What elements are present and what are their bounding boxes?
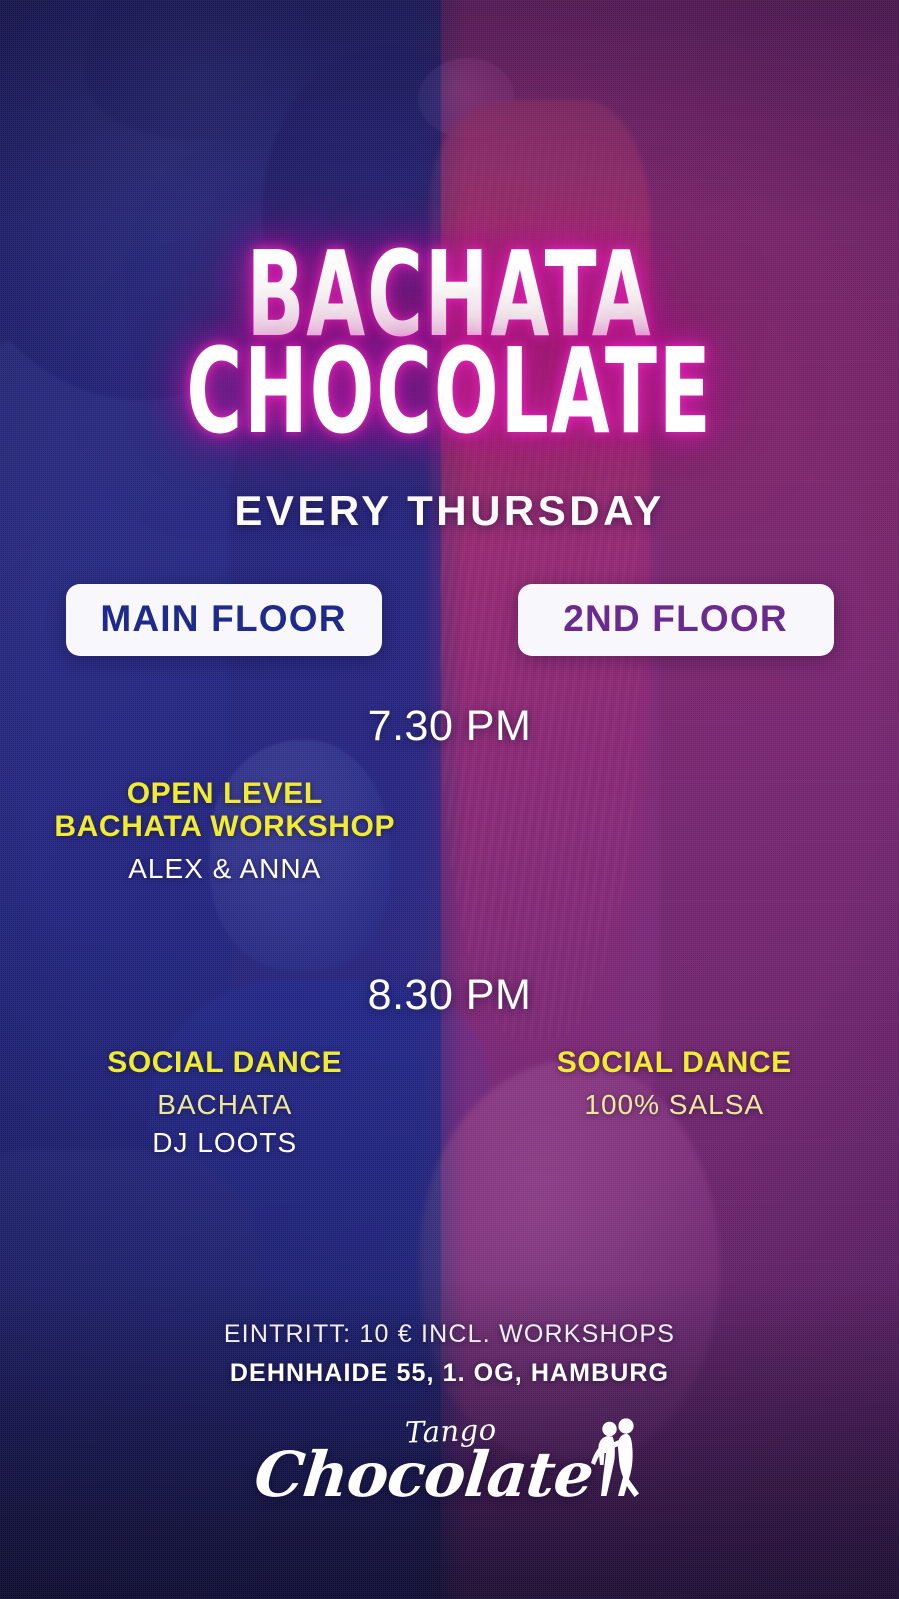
schedule-830-second-style: 100% SALSA (468, 1089, 882, 1121)
schedule-time-830: 8.30 PM (0, 971, 899, 1020)
schedule-830-main-dj: DJ LOOTS (18, 1127, 432, 1159)
schedule-slot-830: 8.30 PM SOCIAL DANCE BACHATA DJ LOOTS SO… (0, 885, 899, 1159)
schedule-slot-730: 7.30 PM OPEN LEVEL BACHATA WORKSHOP ALEX… (0, 656, 899, 885)
schedule-730-heading-line1: OPEN LEVEL (18, 777, 432, 810)
brand-logo-wordmark: Tango Chocolate (255, 1414, 593, 1511)
dancing-couple-icon (588, 1416, 644, 1505)
schedule-830-main-heading: SOCIAL DANCE (18, 1046, 432, 1079)
schedule-730-heading-line2: BACHATA WORKSHOP (18, 810, 432, 843)
title-block: BACHATA CHOCOLATE (0, 243, 899, 423)
title-line-chocolate: CHOCOLATE (36, 340, 863, 446)
floor-badge-main-label: MAIN FLOOR (96, 598, 352, 640)
floor-badge-second-label: 2ND FLOOR (548, 598, 804, 640)
schedule-830-second-heading: SOCIAL DANCE (468, 1046, 882, 1079)
poster-content: BACHATA CHOCOLATE EVERY THURSDAY MAIN FL… (0, 0, 899, 1599)
schedule-830-second-floor: SOCIAL DANCE 100% SALSA (450, 1046, 899, 1159)
floor-badges: MAIN FLOOR 2ND FLOOR (0, 584, 899, 656)
floor-badge-main[interactable]: MAIN FLOOR (66, 584, 382, 656)
brand-logo-chocolate: Chocolate (251, 1438, 596, 1511)
brand-logo: Tango Chocolate (0, 1414, 899, 1511)
floor-badge-second[interactable]: 2ND FLOOR (518, 584, 834, 656)
schedule-slot-730-columns: OPEN LEVEL BACHATA WORKSHOP ALEX & ANNA (0, 777, 899, 885)
footer-price: EINTRITT: 10 € INCL. WORKSHOPS (0, 1320, 899, 1349)
subtitle-every-thursday: EVERY THURSDAY (234, 487, 664, 535)
schedule-730-instructors: ALEX & ANNA (18, 853, 432, 885)
poster-footer: EINTRITT: 10 € INCL. WORKSHOPS DEHNHAIDE… (0, 1320, 899, 1599)
schedule-slot-830-columns: SOCIAL DANCE BACHATA DJ LOOTS SOCIAL DAN… (0, 1046, 899, 1159)
schedule-830-main-floor: SOCIAL DANCE BACHATA DJ LOOTS (0, 1046, 450, 1159)
footer-address: DEHNHAIDE 55, 1. OG, HAMBURG (0, 1359, 899, 1388)
schedule-time-730: 7.30 PM (0, 702, 899, 751)
schedule-730-main-floor: OPEN LEVEL BACHATA WORKSHOP ALEX & ANNA (0, 777, 450, 885)
schedule-730-second-floor-empty (450, 777, 899, 885)
schedule-730-heading: OPEN LEVEL BACHATA WORKSHOP (18, 777, 432, 843)
event-poster: BACHATA CHOCOLATE EVERY THURSDAY MAIN FL… (0, 0, 899, 1599)
schedule-830-main-style: BACHATA (18, 1089, 432, 1121)
